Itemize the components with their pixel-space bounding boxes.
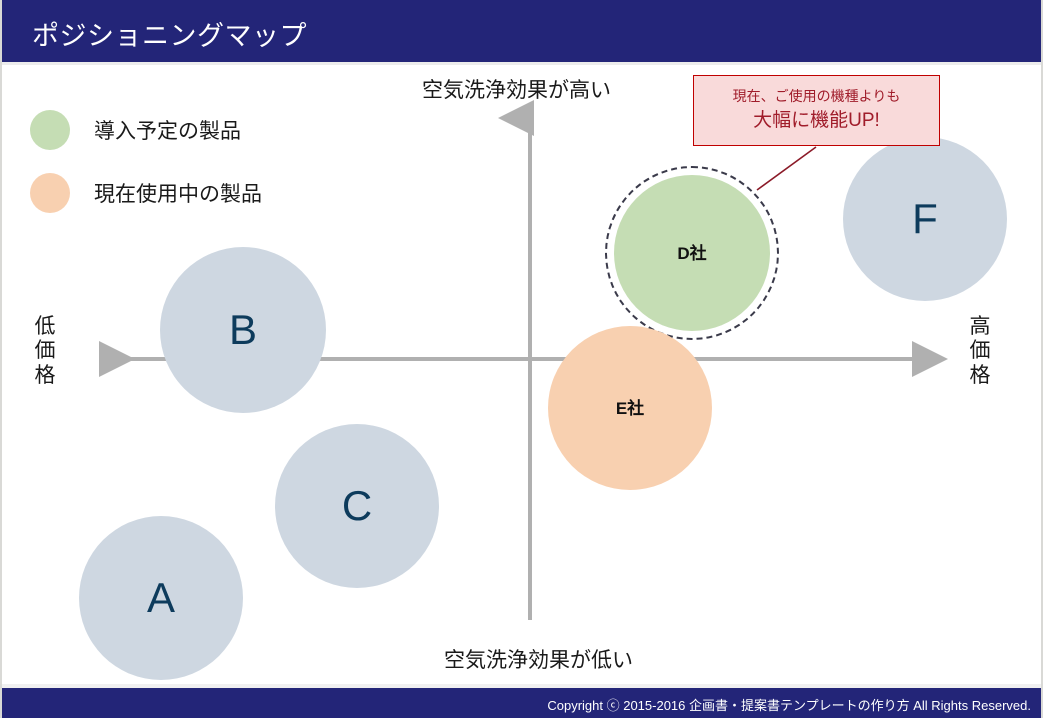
callout-text-line-1: 現在、ご使用の機種よりも	[733, 88, 901, 105]
callout-text-line-2: 大幅に機能UP!	[753, 110, 880, 133]
slide-canvas: ポジショニングマップ 導入予定の製品 現在使用中の製品 空気洗浄効果が高い 空気…	[0, 0, 1043, 718]
callout-box: 現在、ご使用の機種よりも 大幅に機能UP!	[693, 75, 940, 146]
slide-footer-bar: Copyright ⓒ 2015-2016 企画書・提案書テンプレートの作り方 …	[2, 688, 1043, 718]
copyright-text: Copyright ⓒ 2015-2016 企画書・提案書テンプレートの作り方 …	[547, 695, 1031, 714]
